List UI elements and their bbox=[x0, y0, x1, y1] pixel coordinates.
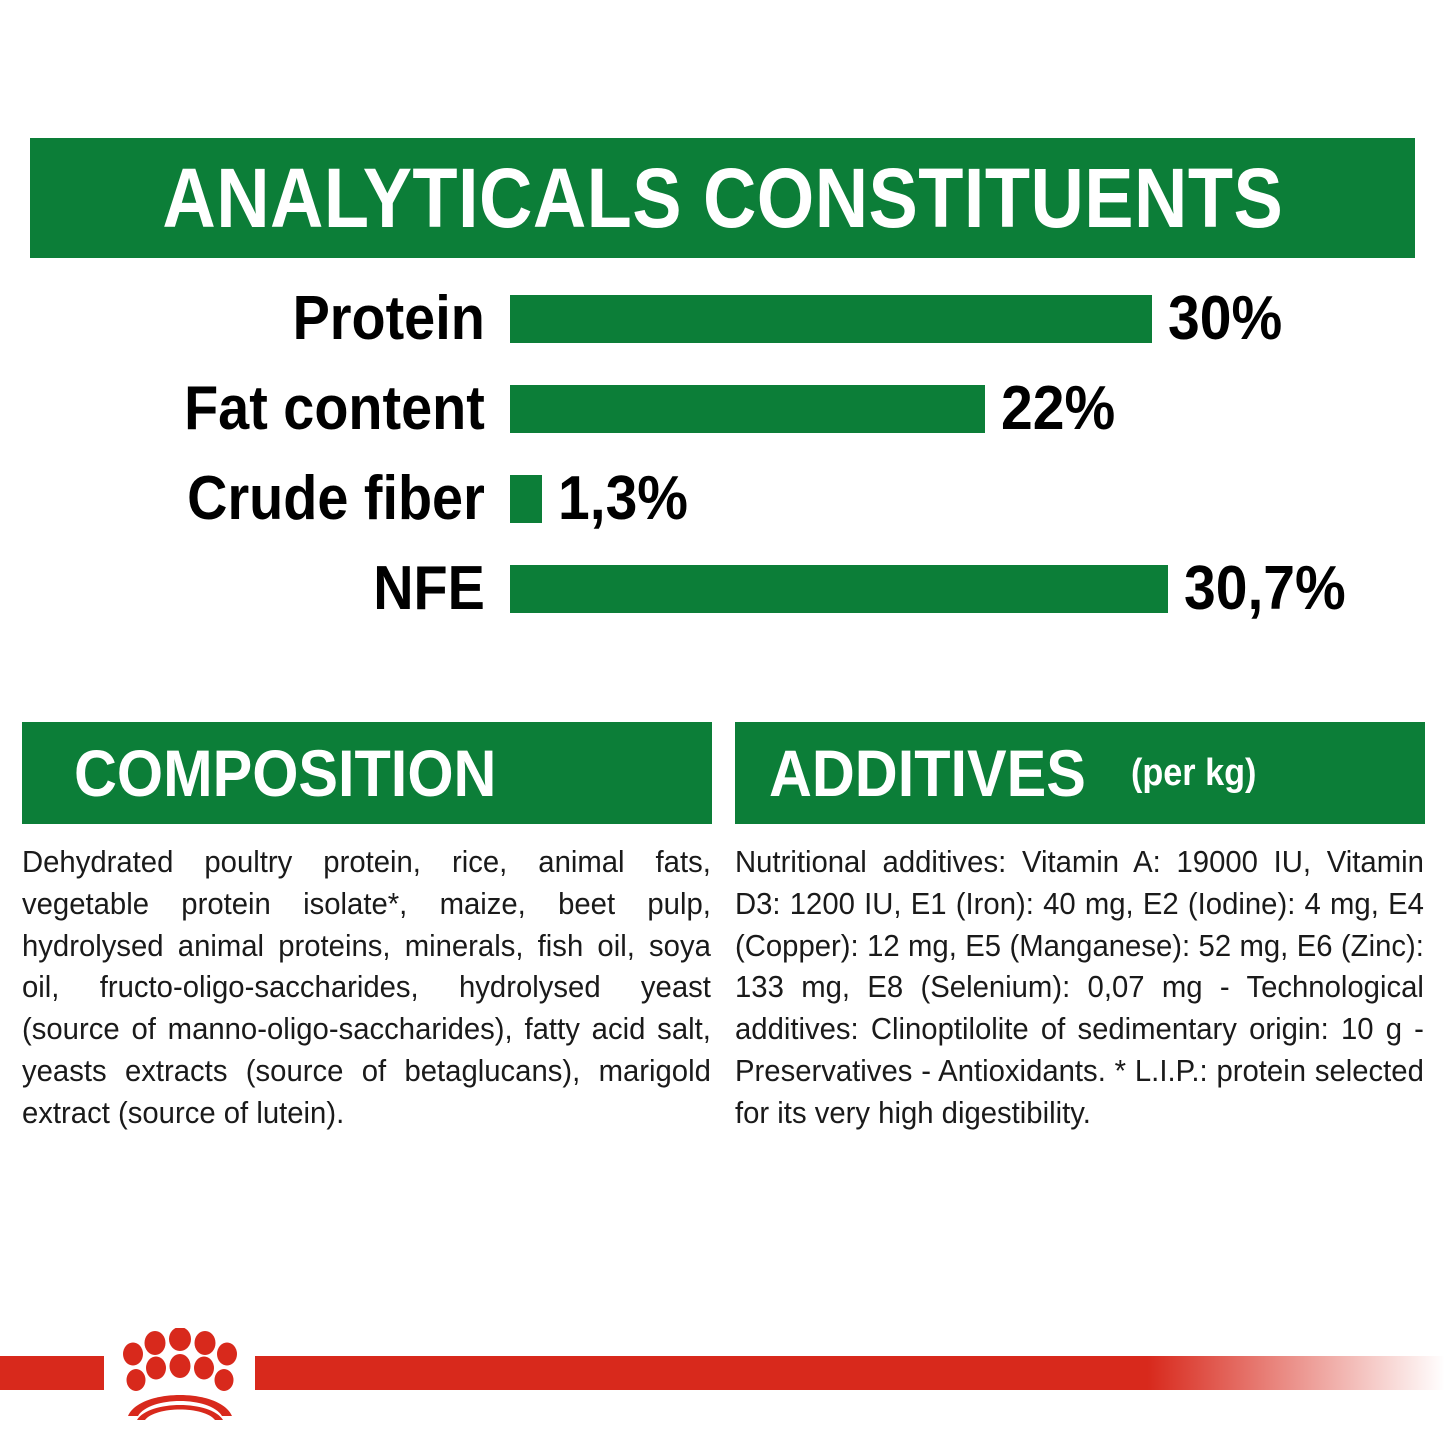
royal-canin-crown-logo-icon bbox=[104, 1328, 256, 1420]
bar-value-nfe: 30,7% bbox=[1184, 558, 1346, 620]
bar-fill-fat-content bbox=[510, 385, 985, 433]
composition-panel: COMPOSITION Dehydrated poultry protein, … bbox=[22, 722, 712, 1134]
bar-row-nfe: NFE 30,7% bbox=[30, 558, 1420, 620]
additives-heading: ADDITIVES bbox=[769, 740, 1086, 806]
footer-brand-bar bbox=[0, 1356, 1445, 1390]
bar-value-crude-fiber: 1,3% bbox=[558, 468, 688, 530]
bar-label-fat-content: Fat content bbox=[78, 378, 510, 440]
bar-track-nfe: 30,7% bbox=[510, 558, 1420, 620]
analyticals-constituents-title: ANALYTICALS CONSTITUENTS bbox=[162, 156, 1283, 240]
bar-track-crude-fiber: 1,3% bbox=[510, 468, 1420, 530]
additives-subheading: (per kg) bbox=[1131, 754, 1256, 792]
additives-header: ADDITIVES (per kg) bbox=[735, 722, 1425, 824]
footer-bar-left bbox=[0, 1356, 104, 1390]
bar-track-fat-content: 22% bbox=[510, 378, 1420, 440]
composition-heading: COMPOSITION bbox=[74, 740, 496, 806]
analyticals-bar-chart: Protein 30% Fat content 22% Crude fiber … bbox=[30, 288, 1420, 648]
bar-fill-nfe bbox=[510, 565, 1168, 613]
bar-row-fat-content: Fat content 22% bbox=[30, 378, 1420, 440]
bar-track-protein: 30% bbox=[510, 288, 1420, 350]
nutrition-label-page: ANALYTICALS CONSTITUENTS Protein 30% Fat… bbox=[0, 0, 1445, 1445]
footer-bar-right bbox=[255, 1356, 1445, 1390]
additives-panel: ADDITIVES (per kg) Nutritional additives… bbox=[735, 722, 1425, 1134]
bar-row-protein: Protein 30% bbox=[30, 288, 1420, 350]
bar-value-protein: 30% bbox=[1168, 288, 1282, 350]
bar-row-crude-fiber: Crude fiber 1,3% bbox=[30, 468, 1420, 530]
bar-fill-protein bbox=[510, 295, 1152, 343]
analyticals-constituents-banner: ANALYTICALS CONSTITUENTS bbox=[30, 138, 1415, 258]
bar-label-crude-fiber: Crude fiber bbox=[78, 468, 510, 530]
bar-label-protein: Protein bbox=[78, 288, 510, 350]
bar-label-nfe: NFE bbox=[78, 558, 510, 620]
composition-text: Dehydrated poultry protein, rice, animal… bbox=[22, 842, 711, 1134]
bar-value-fat-content: 22% bbox=[1001, 378, 1115, 440]
composition-header: COMPOSITION bbox=[22, 722, 712, 824]
bar-fill-crude-fiber bbox=[510, 475, 542, 523]
additives-text: Nutritional additives: Vitamin A: 19000 … bbox=[735, 842, 1424, 1134]
